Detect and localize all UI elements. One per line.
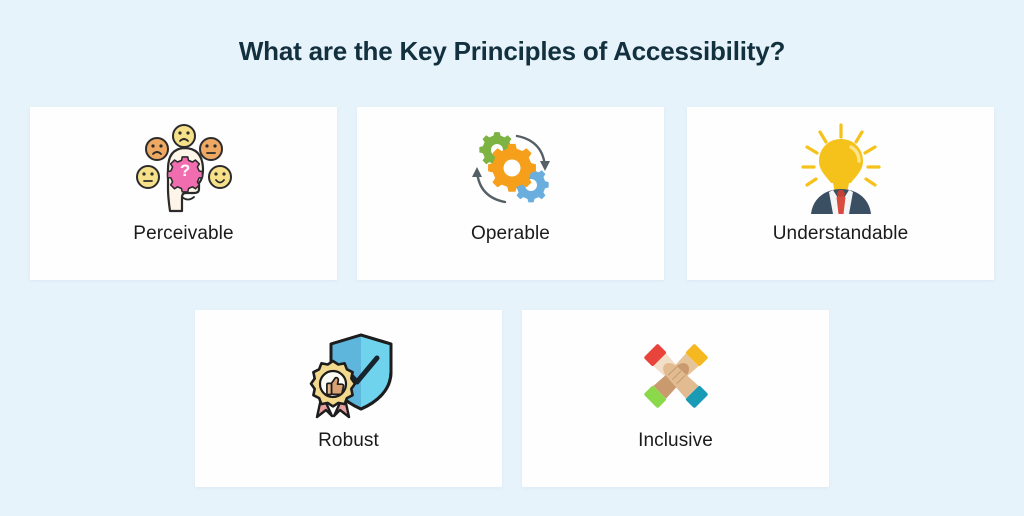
head-with-gear-and-emoji-faces-icon: ?	[130, 121, 238, 217]
shield-with-checkmark-and-thumbs-up-badge-icon	[299, 328, 399, 424]
card-label: Inclusive	[638, 430, 713, 452]
principle-card-perceivable[interactable]: ? Perceivable	[30, 107, 337, 280]
three-gears-with-circular-arrows-icon	[461, 121, 561, 217]
person-with-lightbulb-head-icon	[793, 121, 889, 217]
card-label: Operable	[471, 223, 550, 245]
card-label: Understandable	[773, 223, 909, 245]
card-label: Robust	[318, 430, 379, 452]
principle-card-operable[interactable]: Operable	[357, 107, 664, 280]
page-title: What are the Key Principles of Accessibi…	[0, 36, 1024, 67]
card-label: Perceivable	[133, 223, 233, 245]
principle-card-understandable[interactable]: Understandable	[687, 107, 994, 280]
svg-text:?: ?	[179, 161, 189, 180]
principle-card-inclusive[interactable]: Inclusive	[522, 310, 829, 487]
principle-card-robust[interactable]: Robust	[195, 310, 502, 487]
four-hands-together-diversity-icon	[626, 328, 726, 424]
